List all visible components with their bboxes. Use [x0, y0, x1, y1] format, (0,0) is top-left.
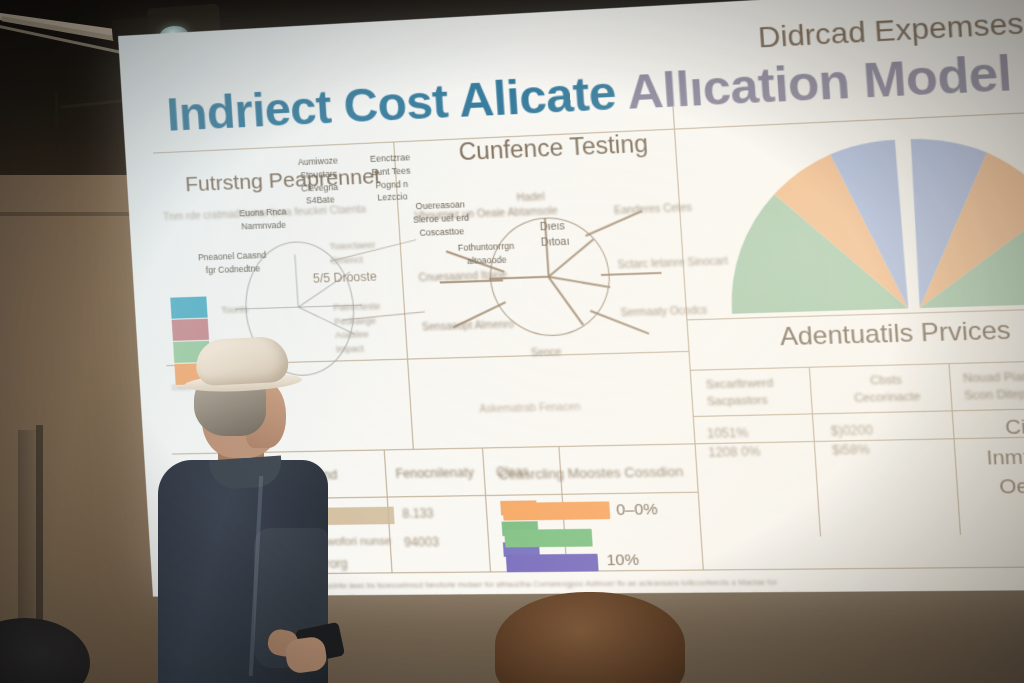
- slide-title-secondary: Allıcation Model: [625, 45, 1013, 119]
- semi-label-3: Eenctzrae Eunt Tees Pognd n Lezccio: [346, 150, 437, 206]
- bar-label-2: 10%: [606, 551, 640, 569]
- panel-footer-conference: Askematrab Fenacen: [479, 402, 581, 416]
- bar-panel-title: Ceasrcling Moostes Cossdion: [498, 462, 693, 485]
- audience-member-head: [495, 592, 685, 683]
- semi-caption: 5/5 Drooste: [313, 269, 378, 285]
- semi-label-4: Ouereasoan Sleroe uef erd Coscasttoe: [391, 197, 492, 240]
- slide-title-primary: Indriect Cost Alicate: [165, 66, 617, 141]
- divider: [482, 447, 491, 571]
- pie-leader: [601, 272, 662, 276]
- table-header-left-1: Fenocnilenaty: [395, 464, 484, 483]
- table-cell-left-2b: 94003: [404, 533, 440, 552]
- label-conference-right: Sctarc letanre Sinocart: [617, 255, 727, 273]
- divider: [690, 359, 1024, 371]
- presenter: [158, 338, 343, 683]
- label-conference-bottom: Seoce: [531, 346, 562, 361]
- table-cell-1: $)0200 $i58%: [830, 421, 874, 460]
- label-conference-bottom-left: Sensaoopt Almenro: [419, 318, 517, 335]
- semi-label-5: Fothuntonrrgn altoaoode: [437, 239, 536, 269]
- semi-label-0: Pneaonel Caasnd fgr Codnedtne: [183, 248, 282, 277]
- table-cell-2: Cihiry Inmfattton Oenties: [961, 411, 1024, 503]
- table-header-1: Cbsts Cecorinacte: [829, 372, 944, 409]
- semicircle-chart-direct-expenses: [718, 122, 1024, 316]
- divider: [809, 367, 821, 537]
- table-header-0: Sxcarltrwerd Sacpastors: [706, 375, 808, 411]
- presentation-photo: Indriect Cost Alicate Allıcation Model F…: [0, 0, 1024, 683]
- bar-0: [502, 501, 610, 520]
- semi-edge-label: Dıeıs Dıtoaı: [539, 217, 605, 251]
- legend-swatch: [170, 296, 207, 318]
- section-title-services: Adentuatils Prvices: [779, 316, 1012, 352]
- ceiling-conduit: [55, 92, 58, 150]
- panel-title-conference: Cunfence Testing: [458, 130, 649, 166]
- semicircle-svg: [718, 122, 1024, 316]
- label-conference-top-right: Eanderes Cetes: [614, 200, 724, 218]
- table-cell-left-1a: 8.133: [402, 504, 434, 523]
- slide-title: Indriect Cost Alicate Allıcation Model: [165, 40, 1024, 141]
- table-cell-0: 1051% 1208 0%: [706, 423, 761, 462]
- callout-funding-1: Toaoctaeer Omenct: [329, 239, 377, 268]
- table-header-2: Nouad Pianvttlionr Scon Ditepice: [963, 368, 1024, 406]
- presenter-hard-hat: [195, 336, 289, 387]
- bar-label-0: 0–0%: [616, 501, 659, 519]
- bar-1: [504, 529, 593, 548]
- semi-label-1: Euons Rnca Narmnvade: [219, 205, 308, 234]
- divider: [694, 443, 703, 569]
- divider: [948, 363, 961, 535]
- label-conference-top: Hadel: [516, 191, 545, 206]
- bar-2: [506, 554, 599, 573]
- semi-caption-text: 5/5 Drooste: [313, 269, 378, 285]
- divider: [672, 106, 695, 444]
